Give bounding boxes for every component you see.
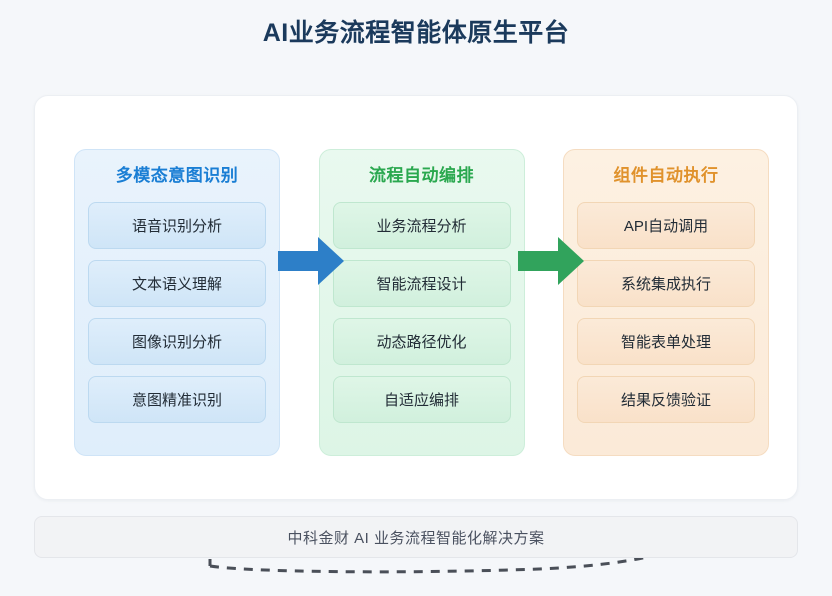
stage-item-list-component-auto-execution: API自动调用 系统集成执行 智能表单处理 结果反馈验证 (577, 202, 755, 423)
diagram-card: 多模态意图识别 语音识别分析 文本语义理解 图像识别分析 意图精准识别 流程自动… (34, 95, 798, 500)
stage-heading-multimodal-intent-recognition: 多模态意图识别 (88, 164, 266, 188)
pipeline-columns: 多模态意图识别 语音识别分析 文本语义理解 图像识别分析 意图精准识别 流程自动… (74, 149, 769, 456)
page-title: AI业务流程智能体原生平台 (0, 16, 832, 50)
stage-item[interactable]: 系统集成执行 (577, 260, 755, 307)
stage-item[interactable]: 结果反馈验证 (577, 376, 755, 423)
stage-item[interactable]: 业务流程分析 (333, 202, 511, 249)
footer-text: 中科金财 AI 业务流程智能化解决方案 (287, 527, 544, 548)
stage-panel-multimodal-intent-recognition[interactable]: 多模态意图识别 语音识别分析 文本语义理解 图像识别分析 意图精准识别 (74, 149, 280, 456)
stage-panel-component-auto-execution[interactable]: 组件自动执行 API自动调用 系统集成执行 智能表单处理 结果反馈验证 (563, 149, 769, 456)
stage-item-list-multimodal-intent-recognition: 语音识别分析 文本语义理解 图像识别分析 意图精准识别 (88, 202, 266, 423)
stage-heading-component-auto-execution: 组件自动执行 (577, 164, 755, 188)
stage-item[interactable]: 动态路径优化 (333, 318, 511, 365)
stage-item[interactable]: 智能流程设计 (333, 260, 511, 307)
stage-item[interactable]: 语音识别分析 (88, 202, 266, 249)
stage-item[interactable]: 图像识别分析 (88, 318, 266, 365)
stage-item[interactable]: 意图精准识别 (88, 376, 266, 423)
footer-bar: 中科金财 AI 业务流程智能化解决方案 (34, 516, 798, 558)
stage-item[interactable]: 智能表单处理 (577, 318, 755, 365)
stage-heading-process-auto-orchestration: 流程自动编排 (333, 164, 511, 188)
stage-item[interactable]: 自适应编排 (333, 376, 511, 423)
stage-item[interactable]: API自动调用 (577, 202, 755, 249)
stage-item[interactable]: 文本语义理解 (88, 260, 266, 307)
stage-item-list-process-auto-orchestration: 业务流程分析 智能流程设计 动态路径优化 自适应编排 (333, 202, 511, 423)
stage-panel-process-auto-orchestration[interactable]: 流程自动编排 业务流程分析 智能流程设计 动态路径优化 自适应编排 (319, 149, 525, 456)
diagram-page: AI业务流程智能体原生平台 多模态意图识别 语音识别分析 文本语义理解 图像识别… (0, 0, 832, 588)
